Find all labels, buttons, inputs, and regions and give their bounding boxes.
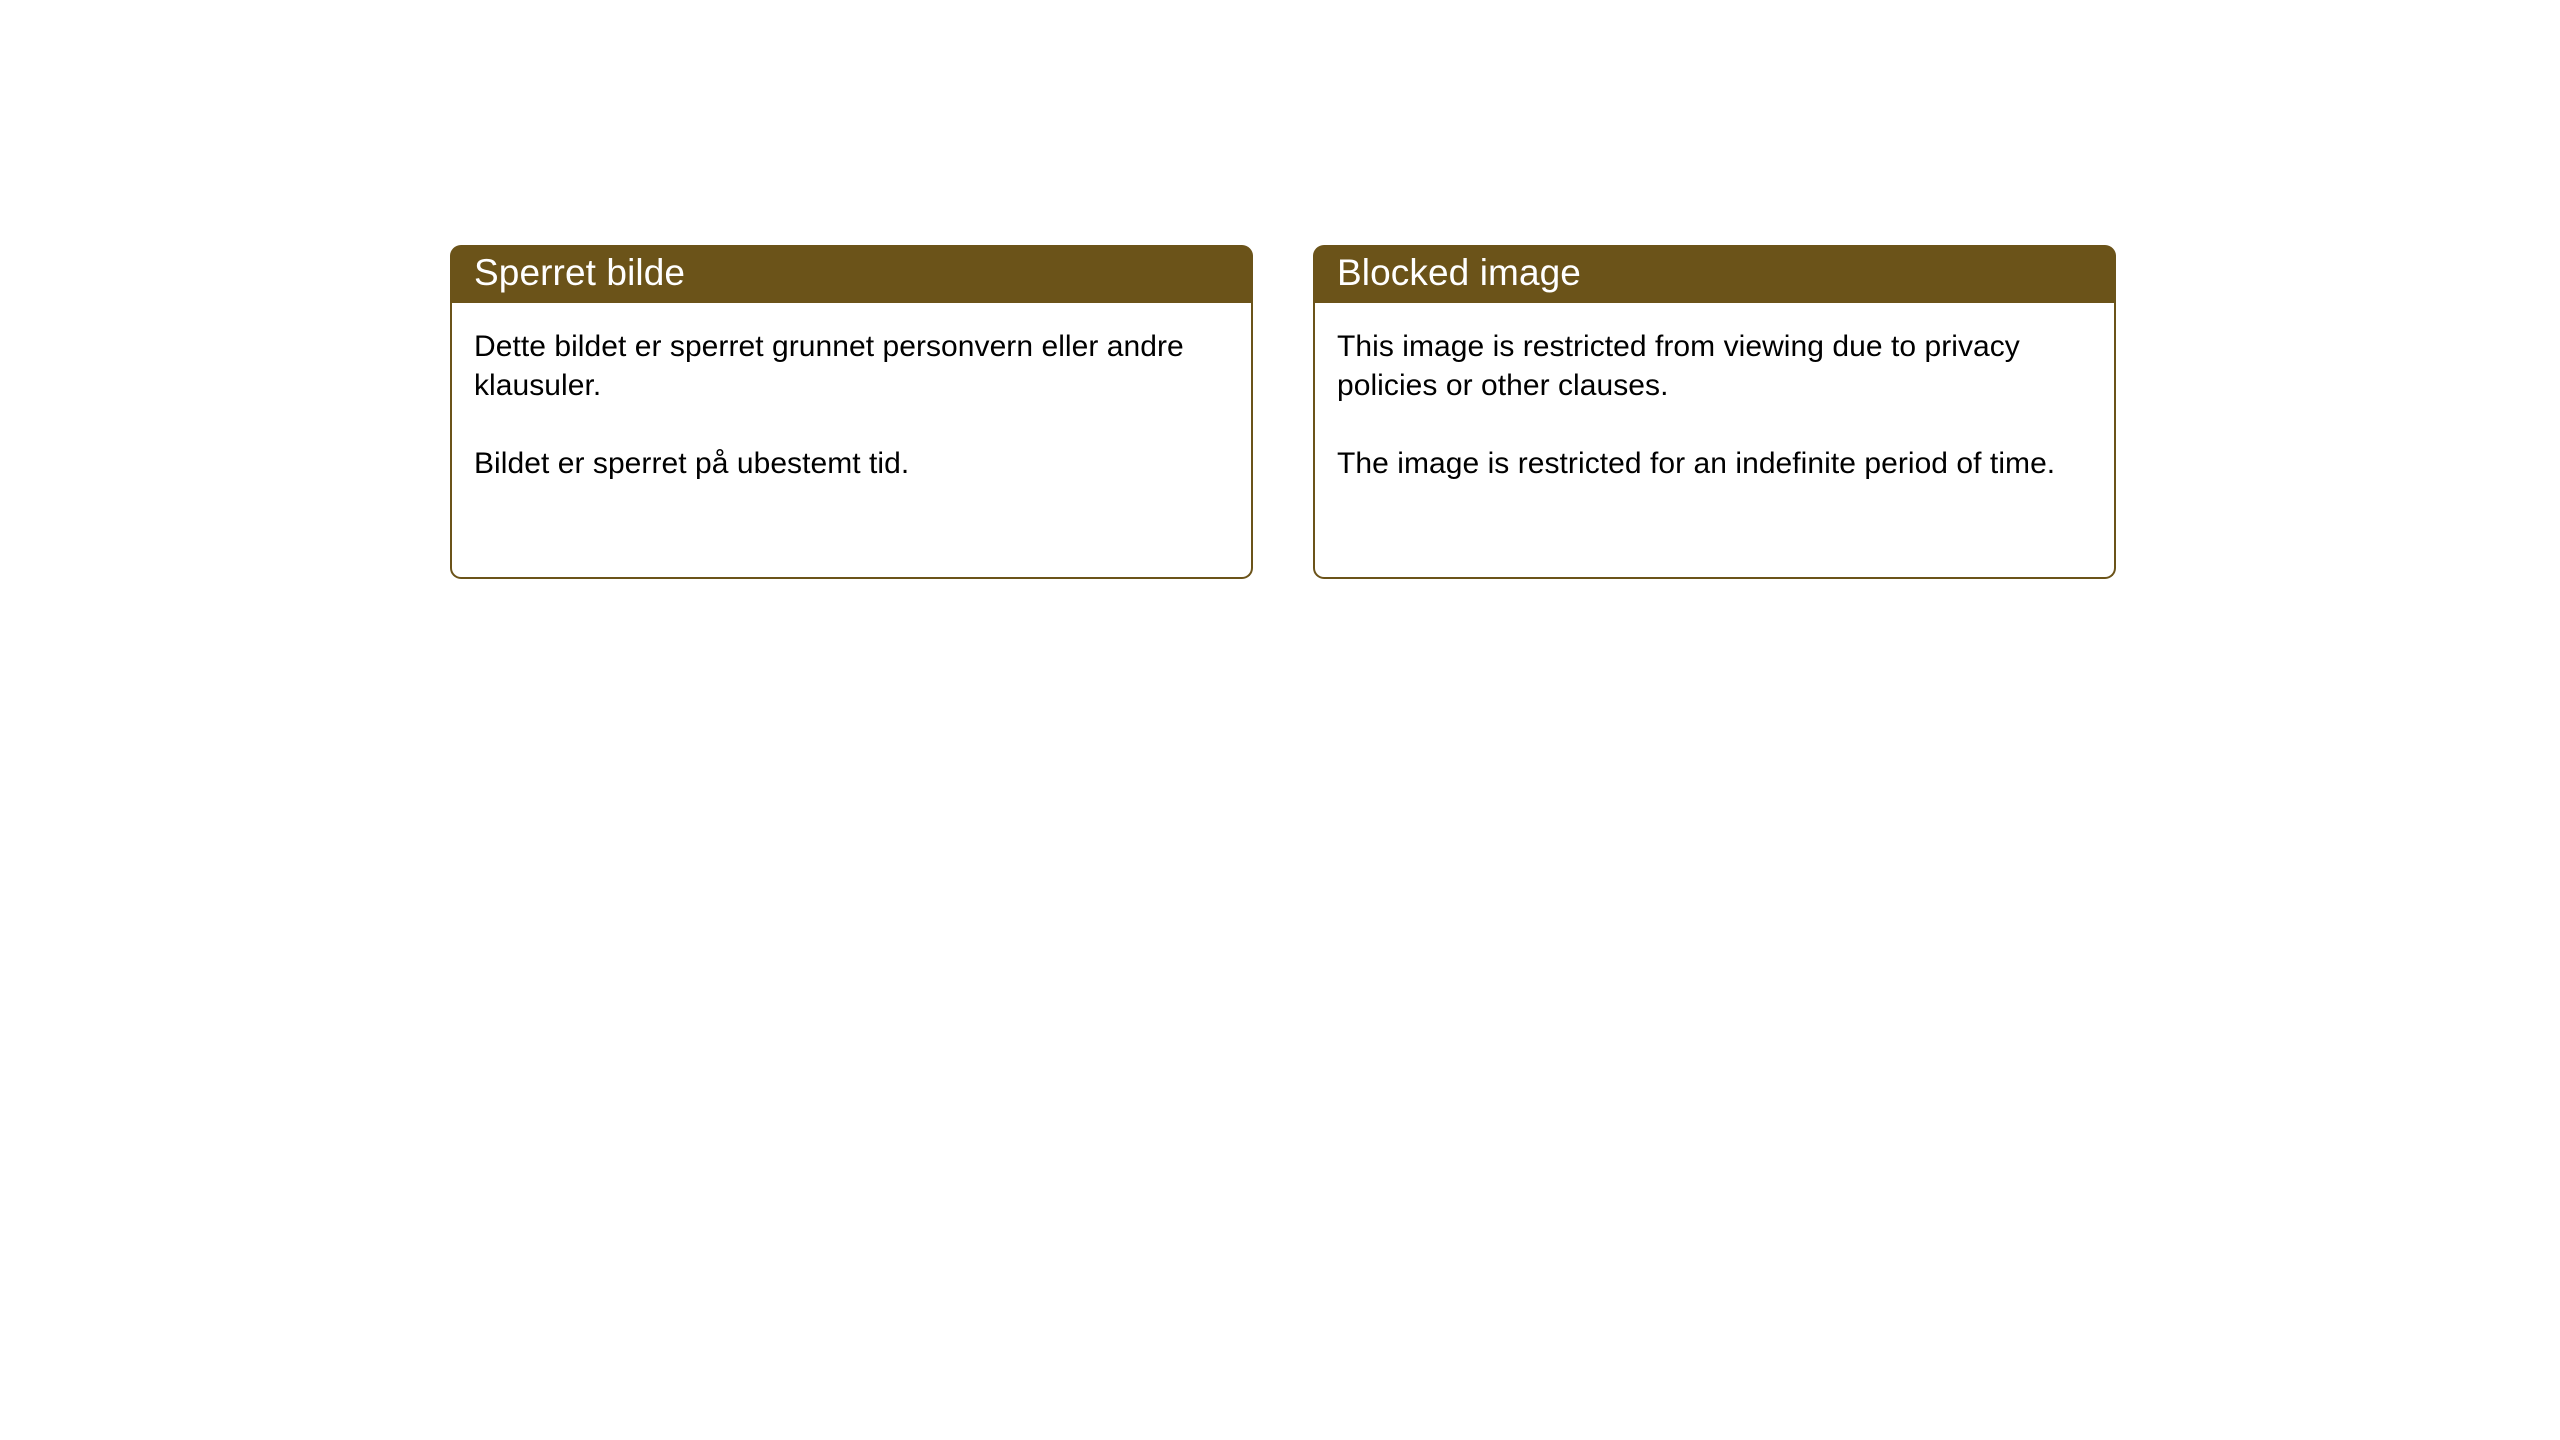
card-paragraph-no-1: Dette bildet er sperret grunnet personve…: [474, 327, 1225, 405]
blocked-image-notice-card-no: Sperret bilde Dette bildet er sperret gr…: [450, 245, 1253, 579]
page-root: Sperret bilde Dette bildet er sperret gr…: [0, 0, 2560, 1440]
card-title-en: Blocked image: [1337, 253, 1581, 293]
card-paragraph-no-2: Bildet er sperret på ubestemt tid.: [474, 444, 1225, 483]
card-body-no: Dette bildet er sperret grunnet personve…: [450, 303, 1253, 579]
card-body-en: This image is restricted from viewing du…: [1313, 303, 2116, 579]
blocked-image-notice-card-en: Blocked image This image is restricted f…: [1313, 245, 2116, 579]
card-header-en: Blocked image: [1313, 245, 2116, 303]
card-header-no: Sperret bilde: [450, 245, 1253, 303]
card-title-no: Sperret bilde: [474, 253, 685, 293]
card-paragraph-en-1: This image is restricted from viewing du…: [1337, 327, 2088, 405]
card-paragraph-en-2: The image is restricted for an indefinit…: [1337, 444, 2088, 483]
